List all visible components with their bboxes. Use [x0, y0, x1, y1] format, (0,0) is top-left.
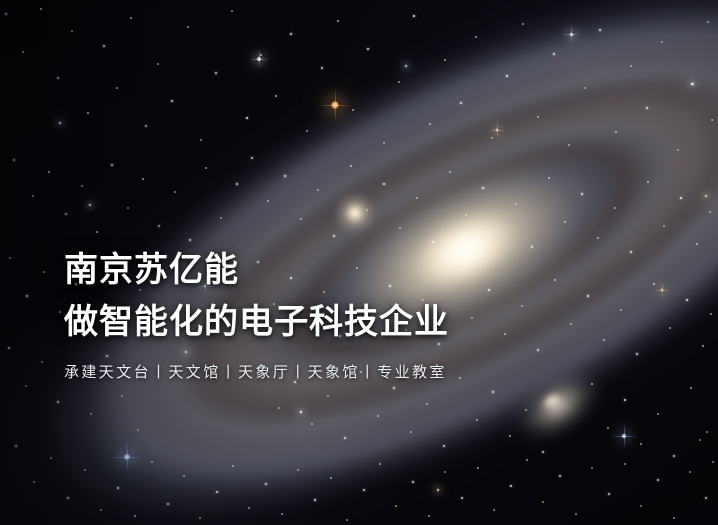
headline-line-2: 做智能化的电子科技企业: [64, 296, 449, 348]
white-star: [690, 82, 694, 86]
hero-subtitle: 承建天文台丨天文馆丨天象厅丨天象馆丨专业教室: [64, 361, 449, 382]
star-diffraction-spike: [127, 441, 128, 473]
amber-star: [704, 194, 708, 198]
amber-star: [436, 488, 440, 492]
star-diffraction-spike: [335, 88, 336, 123]
star-diffraction-spike: [624, 423, 625, 449]
star-diffraction-spike: [497, 121, 498, 139]
headline-line-1: 南京苏亿能: [64, 244, 449, 296]
star-diffraction-spike: [662, 281, 663, 298]
white-star: [299, 410, 303, 414]
hero-banner: 南京苏亿能 做智能化的电子科技企业 承建天文台丨天文馆丨天象厅丨天象馆丨专业教室: [0, 0, 718, 525]
blue-star: [404, 64, 408, 68]
blue-star: [58, 121, 62, 125]
white-star: [88, 203, 92, 207]
star-diffraction-spike: [259, 49, 260, 69]
star-diffraction-spike: [571, 25, 572, 44]
hero-copy: 南京苏亿能 做智能化的电子科技企业 承建天文台丨天文馆丨天象厅丨天象馆丨专业教室: [64, 244, 449, 382]
